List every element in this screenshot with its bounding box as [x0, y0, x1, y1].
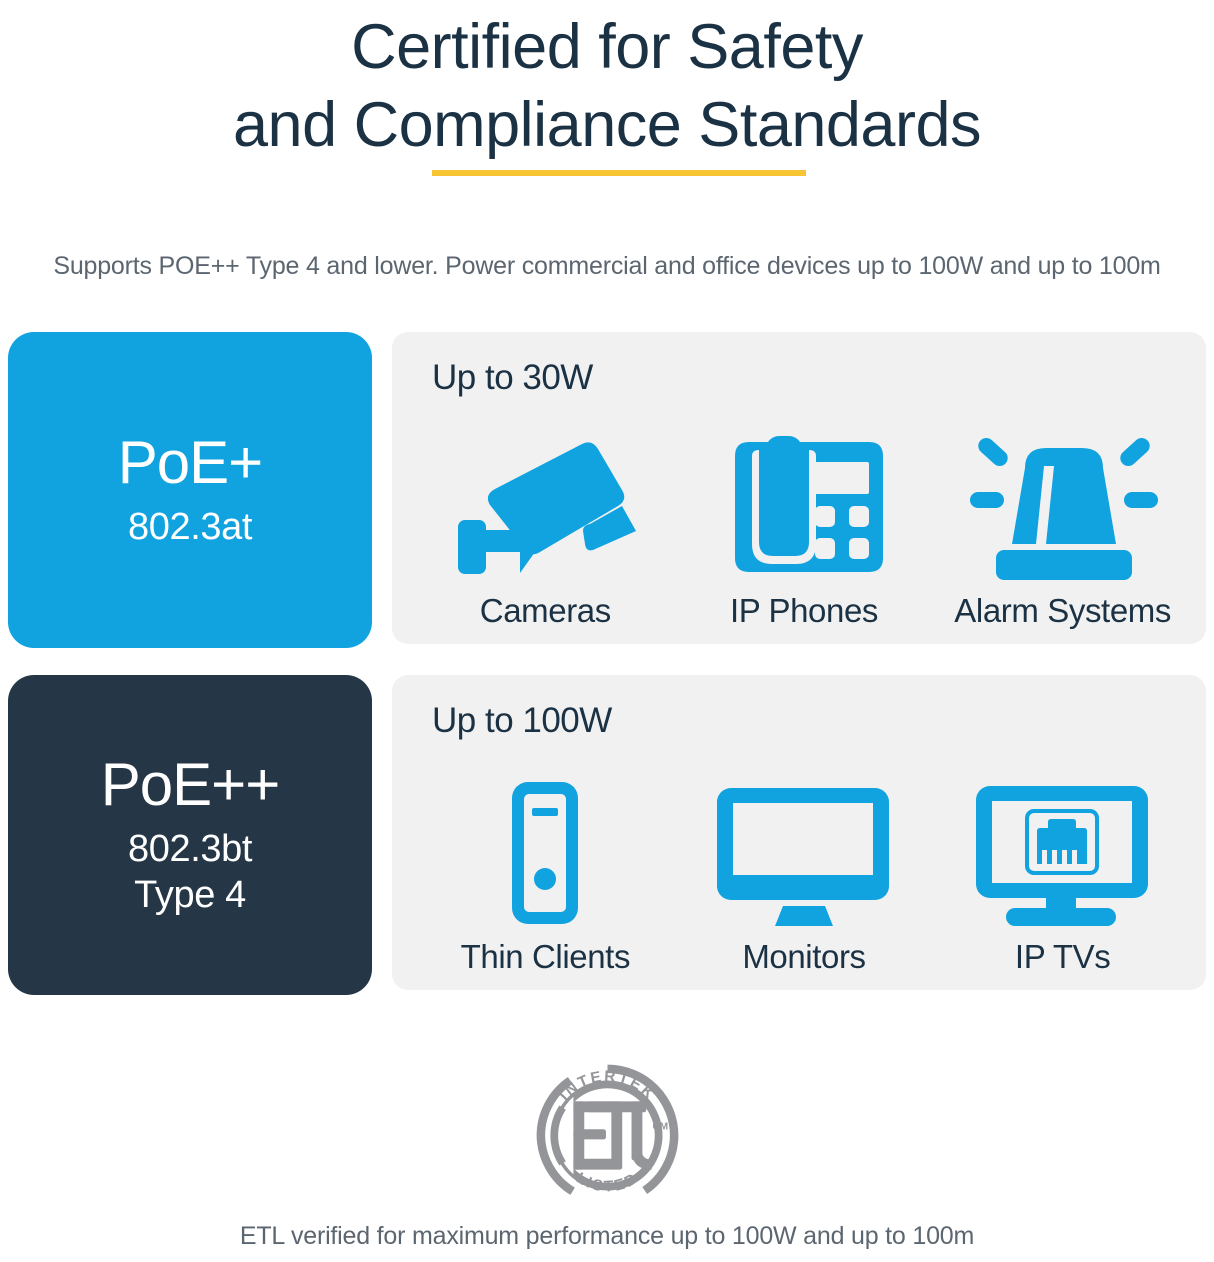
- device-item-ip-phones: IP Phones: [679, 432, 929, 630]
- tier-card-poe-plus: PoE+ 802.3at: [8, 332, 372, 648]
- tier-name: PoE++: [101, 752, 280, 818]
- security-camera-icon: [450, 432, 640, 582]
- title-underline-accent: [432, 170, 806, 176]
- monitor-icon: [709, 778, 899, 928]
- tier-name: PoE+: [118, 430, 262, 496]
- etl-caption: ETL verified for maximum performance up …: [0, 1222, 1214, 1251]
- etl-logo-cm-mark: CM: [652, 1121, 668, 1132]
- device-label: Thin Clients: [461, 938, 630, 976]
- page-title-line-2: and Compliance Standards: [0, 86, 1214, 164]
- power-heading: Up to 30W: [432, 358, 593, 398]
- device-panel-poe-plusplus: Up to 100W Thin Clients: [392, 675, 1206, 990]
- tier-card-poe-plusplus: PoE++ 802.3bt Type 4: [8, 675, 372, 995]
- device-label: IP Phones: [730, 592, 878, 630]
- thin-client-icon: [490, 778, 600, 928]
- device-row-poe-plusplus: Thin Clients Monitors: [416, 753, 1192, 976]
- device-item-alarm-systems: Alarm Systems: [938, 432, 1188, 630]
- device-label: Cameras: [480, 592, 611, 630]
- device-item-ip-tvs: IP TVs: [938, 778, 1188, 976]
- power-heading: Up to 100W: [432, 701, 612, 741]
- etl-logo-bottom-text: LISTED: [573, 1169, 642, 1195]
- device-item-monitors: Monitors: [679, 778, 929, 976]
- device-label: IP TVs: [1015, 938, 1110, 976]
- page-header: Certified for Safety and Compliance Stan…: [0, 0, 1214, 164]
- page-subtitle: Supports POE++ Type 4 and lower. Power c…: [0, 252, 1214, 281]
- etl-listed-intertek-logo: INTERTEK LISTED CM: [530, 1058, 685, 1213]
- tier-standard: 802.3bt: [128, 826, 252, 872]
- page-title-line-1: Certified for Safety: [0, 0, 1214, 86]
- device-panel-poe-plus: Up to 30W Cameras: [392, 332, 1206, 644]
- ip-tv-icon: [968, 778, 1158, 928]
- alarm-siren-icon: [958, 432, 1168, 582]
- device-label: Alarm Systems: [954, 592, 1171, 630]
- tier-type: Type 4: [134, 872, 246, 918]
- ip-phone-icon: [719, 432, 889, 582]
- device-item-cameras: Cameras: [420, 432, 670, 630]
- svg-text:LISTED: LISTED: [573, 1169, 642, 1195]
- device-item-thin-clients: Thin Clients: [420, 778, 670, 976]
- device-row-poe-plus: Cameras: [416, 410, 1192, 630]
- tier-standard: 802.3at: [128, 504, 252, 550]
- device-label: Monitors: [742, 938, 865, 976]
